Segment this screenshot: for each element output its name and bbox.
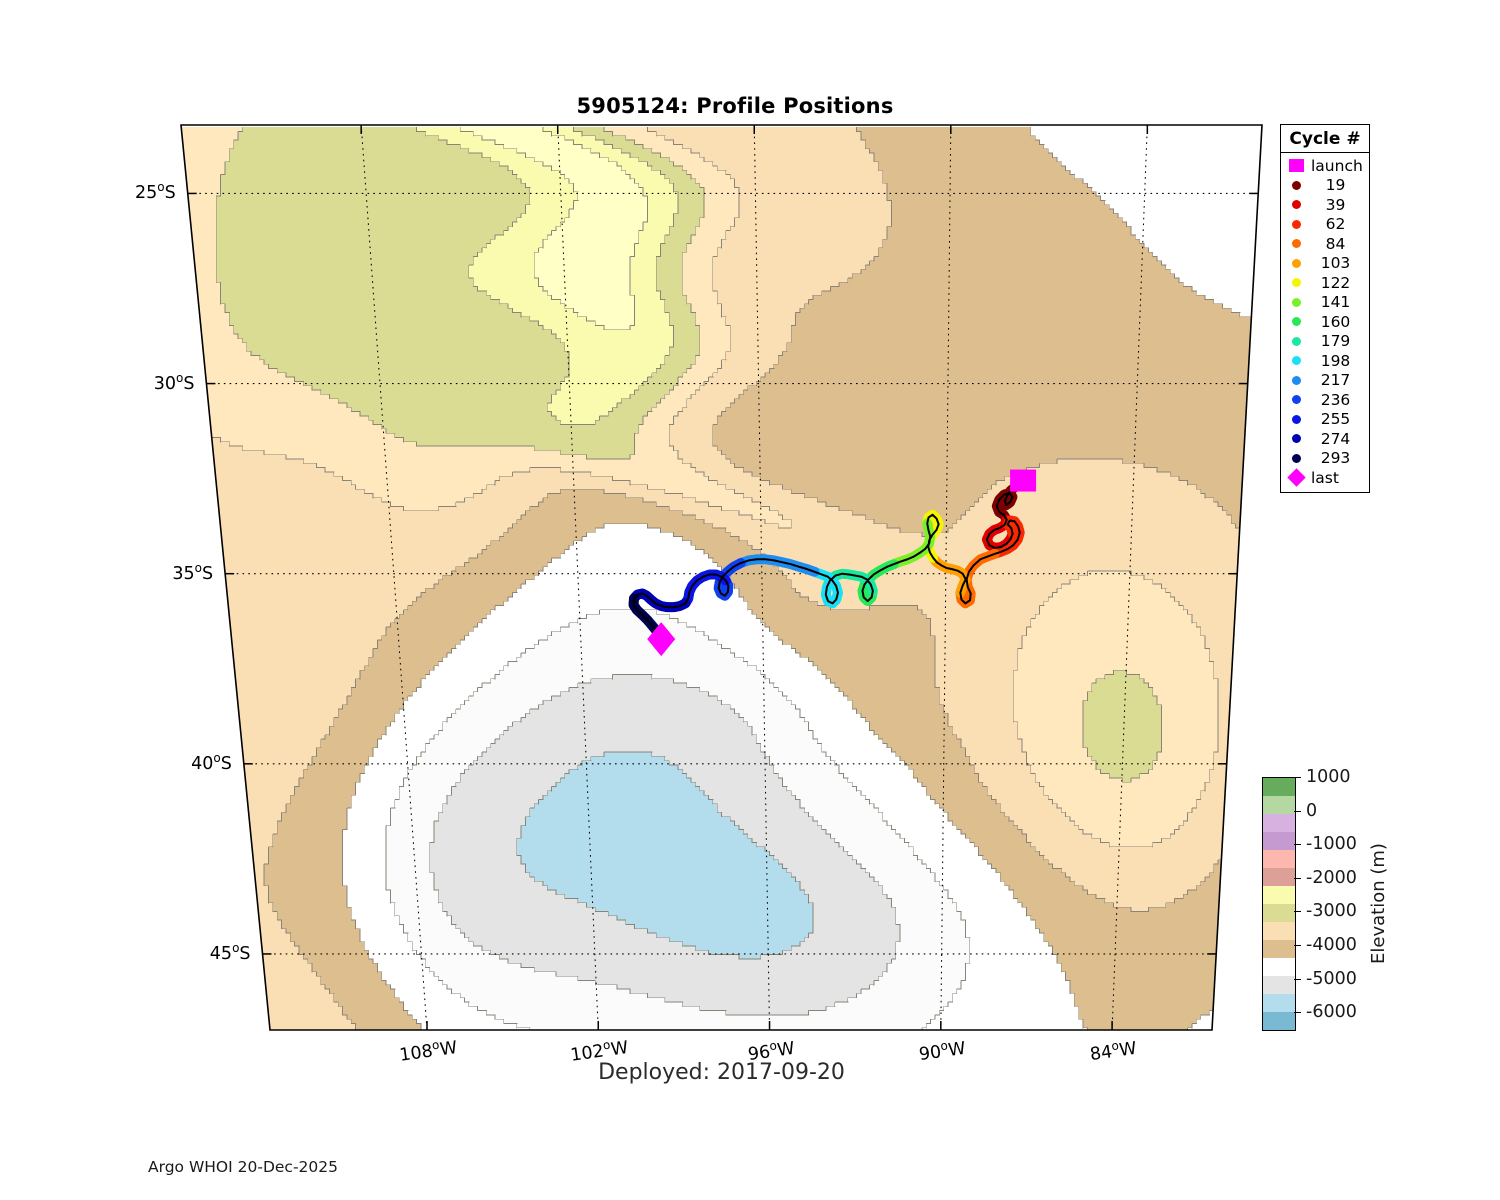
colorbar-band-9 <box>1263 850 1295 868</box>
colorbar-tick--4000 <box>1294 945 1301 946</box>
cycle-legend[interactable]: Cycle # launch19396284103122141160179198… <box>1280 124 1370 493</box>
colorbar-band-0 <box>1263 1012 1295 1030</box>
legend-label: 84 <box>1306 235 1369 253</box>
legend-item-179[interactable]: 179 <box>1281 332 1369 352</box>
legend-label: 293 <box>1306 449 1369 467</box>
colorbar-tick--2000 <box>1294 878 1301 879</box>
legend-marker-circle-icon <box>1286 337 1306 346</box>
legend-label: 217 <box>1306 371 1369 389</box>
legend-marker-circle-icon <box>1286 220 1306 229</box>
legend-item-39[interactable]: 39 <box>1281 195 1369 215</box>
legend-marker-circle-icon <box>1286 200 1306 209</box>
colorbar-tick-label-1000: 1000 <box>1306 767 1351 787</box>
legend-marker-circle-icon <box>1286 356 1306 365</box>
legend-label: 179 <box>1306 332 1369 350</box>
legend-label: last <box>1306 469 1369 487</box>
legend-label: 103 <box>1306 254 1369 272</box>
colorbar-band-4 <box>1263 940 1295 958</box>
colorbar-band-7 <box>1263 886 1295 904</box>
colorbar-tick-label--2000: -2000 <box>1306 868 1357 888</box>
legend-label: 39 <box>1306 196 1369 214</box>
cycle-legend-items: launch1939628410312214116017919821723625… <box>1281 153 1369 492</box>
legend-item-274[interactable]: 274 <box>1281 429 1369 449</box>
legend-marker-circle-icon <box>1286 376 1306 385</box>
legend-marker-circle-icon <box>1286 415 1306 424</box>
legend-item-122[interactable]: 122 <box>1281 273 1369 293</box>
legend-marker-diamond-icon <box>1286 471 1306 484</box>
y-axis-tick-25: 25oS <box>135 183 176 203</box>
legend-marker-circle-icon <box>1286 395 1306 404</box>
y-axis-tick-35: 35oS <box>172 564 213 584</box>
colorbar-tick--5000 <box>1294 979 1301 980</box>
colorbar-band-11 <box>1263 814 1295 832</box>
colorbar-tick-1000 <box>1294 777 1301 778</box>
legend-item-293[interactable]: 293 <box>1281 449 1369 469</box>
legend-marker-square-icon <box>1286 159 1306 172</box>
legend-item-198[interactable]: 198 <box>1281 351 1369 371</box>
legend-marker-circle-icon <box>1286 454 1306 463</box>
colorbar-axis-label: Elevation (m) <box>1365 777 1391 1029</box>
legend-marker-circle-icon <box>1286 278 1306 287</box>
legend-item-84[interactable]: 84 <box>1281 234 1369 254</box>
colorbar-axis-label-text: Elevation (m) <box>1368 843 1389 964</box>
legend-label: 198 <box>1306 352 1369 370</box>
colorbar-band-6 <box>1263 904 1295 922</box>
colorbar-tick-label--1000: -1000 <box>1306 834 1357 854</box>
colorbar-band-2 <box>1263 976 1295 994</box>
colorbar-tick--6000 <box>1294 1012 1301 1013</box>
legend-label: 255 <box>1306 410 1369 428</box>
legend-item-160[interactable]: 160 <box>1281 312 1369 332</box>
elevation-colorbar-panel[interactable]: Elevation (m) 10000-1000-2000-3000-4000-… <box>1262 770 1500 1040</box>
colorbar-band-12 <box>1263 796 1295 814</box>
legend-label: 122 <box>1306 274 1369 292</box>
colorbar-band-5 <box>1263 922 1295 940</box>
colorbar-band-3 <box>1263 958 1295 976</box>
legend-marker-circle-icon <box>1286 317 1306 326</box>
legend-item-62[interactable]: 62 <box>1281 215 1369 235</box>
colorbar-tick-label--5000: -5000 <box>1306 969 1357 989</box>
legend-item-236[interactable]: 236 <box>1281 390 1369 410</box>
launch-marker <box>1010 470 1036 492</box>
legend-item-19[interactable]: 19 <box>1281 176 1369 196</box>
legend-label: 236 <box>1306 391 1369 409</box>
legend-item-last[interactable]: last <box>1281 468 1369 488</box>
legend-marker-circle-icon <box>1286 259 1306 268</box>
legend-label: 141 <box>1306 293 1369 311</box>
y-axis-tick-40: 40oS <box>191 754 232 774</box>
legend-label: launch <box>1306 157 1369 175</box>
footer-credit: Argo WHOI 20-Dec-2025 <box>148 1158 338 1176</box>
legend-label: 19 <box>1306 176 1369 194</box>
colorbar-band-13 <box>1263 778 1295 796</box>
legend-item-141[interactable]: 141 <box>1281 293 1369 313</box>
legend-item-255[interactable]: 255 <box>1281 410 1369 430</box>
colorbar-band-10 <box>1263 832 1295 850</box>
legend-label: 160 <box>1306 313 1369 331</box>
legend-item-103[interactable]: 103 <box>1281 254 1369 274</box>
cycle-legend-title: Cycle # <box>1281 125 1369 153</box>
colorbar-band-8 <box>1263 868 1295 886</box>
colorbar-tick-label--4000: -4000 <box>1306 935 1357 955</box>
y-axis-tick-45: 45oS <box>210 944 251 964</box>
colorbar-band-1 <box>1263 994 1295 1012</box>
colorbar-tick-label--3000: -3000 <box>1306 901 1357 921</box>
y-axis-tick-30: 30oS <box>154 374 195 394</box>
colorbar-tick-label--6000: -6000 <box>1306 1002 1357 1022</box>
legend-marker-circle-icon <box>1286 239 1306 248</box>
legend-marker-circle-icon <box>1286 298 1306 307</box>
legend-marker-circle-icon <box>1286 434 1306 443</box>
legend-marker-circle-icon <box>1286 181 1306 190</box>
elevation-colorbar[interactable] <box>1262 777 1296 1031</box>
colorbar-tick-0 <box>1294 811 1301 812</box>
colorbar-tick-label-0: 0 <box>1306 801 1317 821</box>
legend-label: 274 <box>1306 430 1369 448</box>
colorbar-tick--3000 <box>1294 911 1301 912</box>
legend-item-217[interactable]: 217 <box>1281 371 1369 391</box>
legend-label: 62 <box>1306 215 1369 233</box>
legend-item-launch[interactable]: launch <box>1281 156 1369 176</box>
colorbar-tick--1000 <box>1294 844 1301 845</box>
